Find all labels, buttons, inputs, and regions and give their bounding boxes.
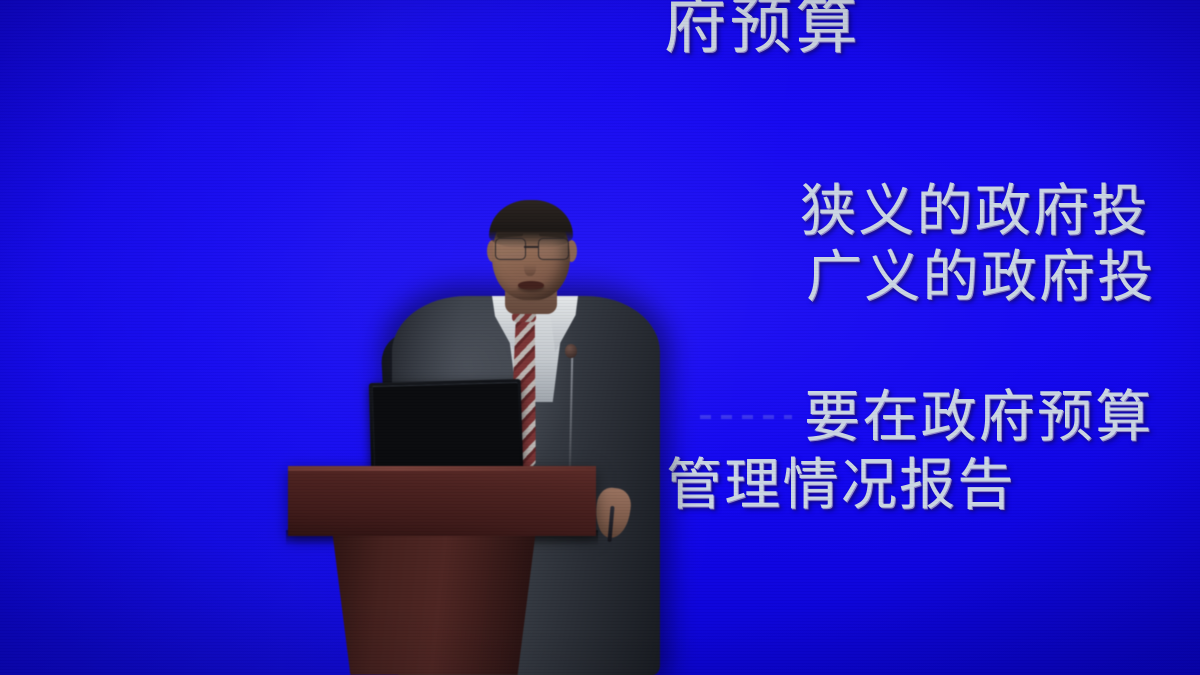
eyeglass-lens-left bbox=[495, 238, 526, 260]
laptop-bezel bbox=[372, 382, 520, 471]
video-frame: 府预算 狭义的政府投 广义的政府投 要在政府预算 管理情况报告 bbox=[0, 0, 1200, 675]
podium-desktop bbox=[288, 466, 596, 536]
podium-top-edge bbox=[288, 466, 596, 471]
speaker-chin-shadow bbox=[504, 288, 558, 304]
speaker-nose bbox=[524, 256, 536, 276]
laptop-screen bbox=[369, 379, 524, 475]
speaker bbox=[0, 0, 1200, 675]
podium-column bbox=[324, 536, 544, 675]
microphone-head-icon bbox=[565, 344, 577, 358]
eyeglass-lens-right bbox=[538, 238, 569, 260]
eyeglass-bridge bbox=[524, 246, 538, 248]
